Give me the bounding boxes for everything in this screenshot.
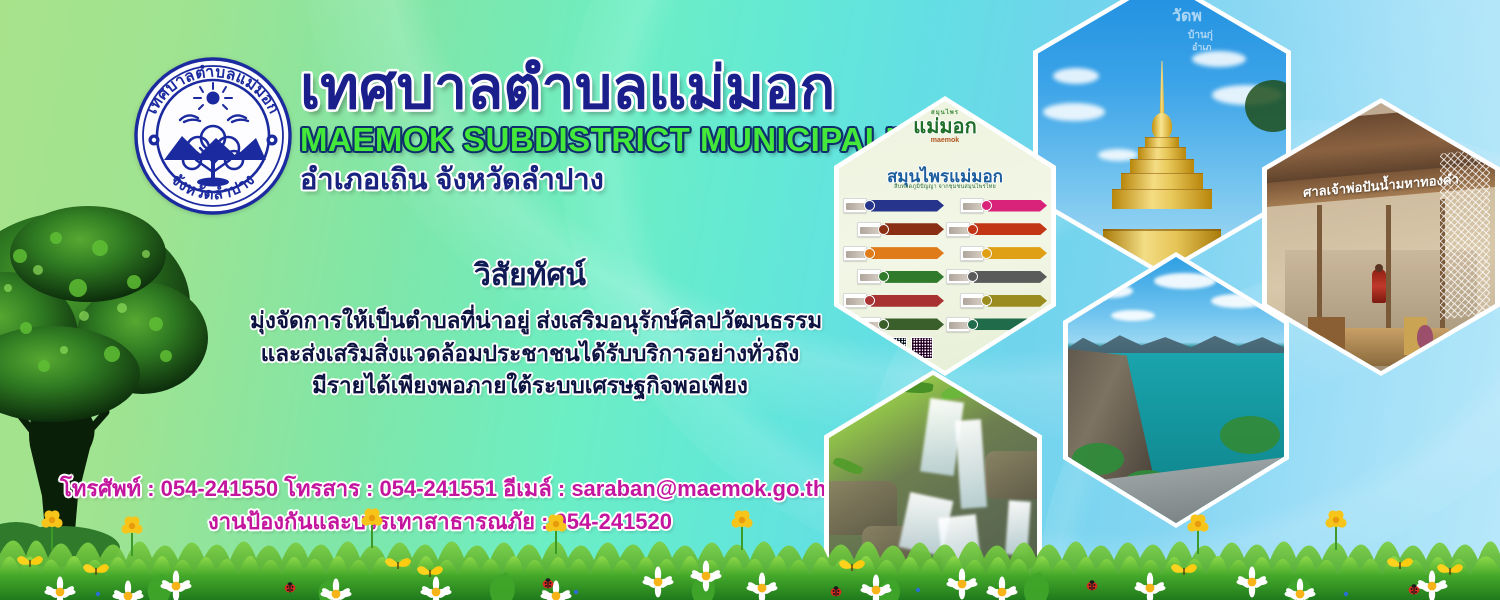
page-title-thai: เทศบาลตำบลแม่มอก [300,58,960,120]
poster-product-banner [988,247,1047,259]
poster-product-badge-icon [967,319,978,330]
hex-photo-pagoda-caption: วัดพ [1172,4,1202,29]
contact-line-2: งานป้องกันและบรรเทาสาธารณภัย : 054-24152… [60,505,820,538]
qr-label-line: Line [918,359,924,363]
vision-line-3: มีรายได้เพียงพอภายใต้ระบบเศรษฐกิจพอเพียง [250,370,810,403]
poster-product-badge-icon [864,200,875,211]
banner-root: เทศบาลตำบลแม่มอก จังหวัดลำปาง [0,0,1500,600]
poster-note-2: 088-4562742 [853,344,873,348]
hex-photo-waterfall [824,370,1042,600]
poster-product-row [960,292,1047,309]
poster-product-grid [843,197,1047,333]
poster-product-row [946,221,1047,238]
poster-product-row [946,268,1047,285]
vision-heading: วิสัยทัศน์ [250,252,810,299]
poster-footer-notes: 054-241550 088-4562742 กลุ่มวิสาหกิจชุมช… [847,339,881,362]
poster-product-badge-icon [878,319,889,330]
poster-brand-small: maemok [890,137,1000,144]
poster-product-banner [871,247,944,259]
municipality-seal: เทศบาลตำบลแม่มอก จังหวัดลำปาง [124,40,302,220]
poster-product-banner [974,223,1047,235]
poster-product-banner [988,295,1047,307]
poster-product-row [960,245,1047,262]
contact-info: โทรศัพท์ : 054-241550 โทรสาร : 054-24155… [60,472,820,538]
poster-note-3: กลุ่มวิสาหกิจชุมชน [853,350,881,355]
poster-product-row [843,245,944,262]
poster-product-row [960,197,1047,214]
vision-line-2: และส่งเสริมสิ่งแวดล้อมประชาชนได้รับบริกา… [250,338,810,371]
poster-product-banner [871,295,944,307]
vision-statement: วิสัยทัศน์ มุ่งจัดการให้เป็นตำบลที่น่าอย… [250,252,810,403]
poster-product-banner [885,318,944,330]
poster-product-banner [871,200,944,212]
poster-note-4: ตำบลแม่มอก [853,356,872,361]
qr-code-facebook [885,337,907,359]
poster-product-banner [988,200,1047,212]
qr-code-line [911,337,933,359]
poster-product-banner [885,271,944,283]
poster-product-row [857,316,944,333]
hex-photo-pagoda-caption-3: อำเภ [1192,40,1211,54]
poster-note-1: 054-241550 [853,339,871,343]
poster-product-badge-icon [878,224,889,235]
poster-product-badge-icon [981,248,992,259]
poster-product-row [946,316,1047,333]
poster-product-row [843,292,944,309]
poster-product-badge-icon [967,224,978,235]
poster-product-banner [974,318,1047,330]
contact-line-1: โทรศัพท์ : 054-241550 โทรสาร : 054-24155… [60,472,820,505]
poster-product-banner [974,271,1047,283]
vision-line-1: มุ่งจัดการให้เป็นตำบลที่น่าอยู่ ส่งเสริม… [250,305,810,338]
poster-product-row [857,268,944,285]
poster-subtitle: สืบทอดภูมิปัญญา จากชุมชนสมุนไพรไทย [839,183,1051,191]
poster-product-badge-icon [981,200,992,211]
poster-product-row [843,197,944,214]
poster-footer: 054-241550 088-4562742 กลุ่มวิสาหกิจชุมช… [847,335,1043,365]
hex-photo-waterfall-image [829,375,1037,600]
qr-label-facebook: Facebook [888,359,903,363]
poster-product-row [857,221,944,238]
poster-product-badge-icon [864,248,875,259]
pagoda-illustration [1102,61,1222,271]
poster-product-banner [885,223,944,235]
